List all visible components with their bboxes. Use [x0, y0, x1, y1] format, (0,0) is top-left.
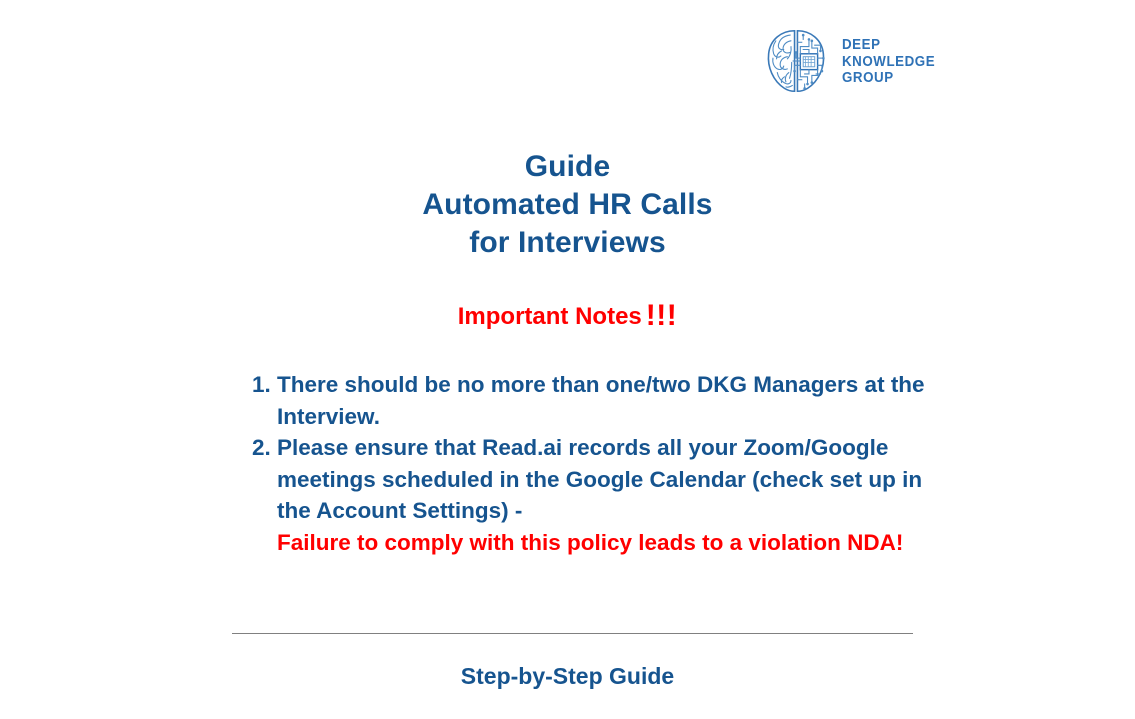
list-item-text: Please ensure that Read.ai records all y… — [277, 435, 922, 523]
important-notes-heading: Important Notes!!! — [0, 301, 1135, 332]
important-notes-heading-text: Important Notes — [458, 303, 642, 330]
important-notes-list: 1. There should be no more than one/two … — [252, 369, 932, 559]
document-page: DEEP KNOWLEDGE GROUP Guide Automated HR … — [0, 0, 1135, 719]
logo-word-line-1: DEEP — [842, 37, 935, 54]
section-divider — [232, 633, 913, 634]
list-item-text: There should be no more than one/two DKG… — [277, 369, 932, 432]
page-title-line-3: for Interviews — [0, 224, 1135, 262]
list-item: 2. Please ensure that Read.ai records al… — [252, 432, 932, 558]
brand-logo: DEEP KNOWLEDGE GROUP — [760, 25, 943, 97]
page-title-line-1: Guide — [0, 148, 1135, 186]
logo-word-line-3: GROUP — [842, 70, 935, 87]
list-item-warning-text: Failure to comply with this policy leads… — [277, 527, 932, 559]
page-title-line-2: Automated HR Calls — [0, 186, 1135, 224]
page-title: Guide Automated HR Calls for Interviews — [0, 148, 1135, 262]
step-by-step-guide-heading: Step-by-Step Guide — [0, 661, 1135, 691]
list-item-marker: 1. — [252, 369, 277, 401]
important-notes-exclamation: !!! — [642, 299, 677, 332]
list-item-marker: 2. — [252, 432, 277, 464]
list-item-body: Please ensure that Read.ai records all y… — [277, 432, 932, 558]
brain-circuit-logo-icon — [760, 25, 832, 97]
logo-word-line-2: KNOWLEDGE — [842, 54, 935, 71]
logo-wordmark: DEEP KNOWLEDGE GROUP — [842, 35, 943, 88]
list-item: 1. There should be no more than one/two … — [252, 369, 932, 432]
